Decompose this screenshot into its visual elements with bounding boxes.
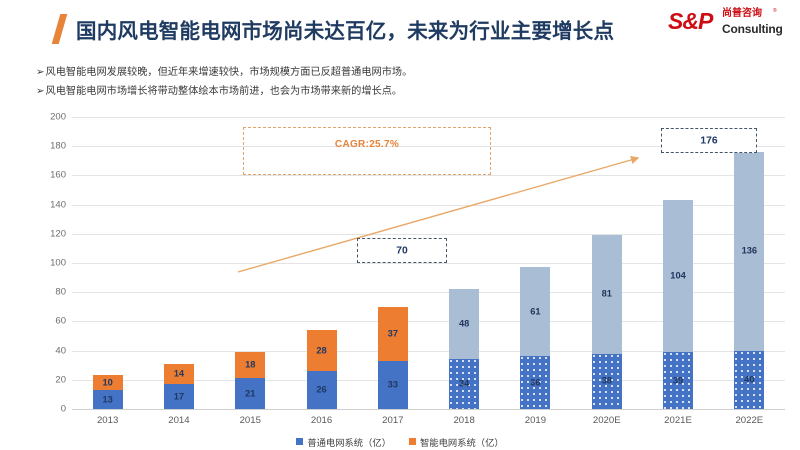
bar-segment-smart[interactable]: 48 xyxy=(449,289,479,359)
bar-value-label: 10 xyxy=(93,378,123,387)
x-axis-tick-label: 2017 xyxy=(382,415,403,426)
legend-label-ordinary: 普通电网系统（亿） xyxy=(307,438,391,448)
bar-value-label: 40 xyxy=(734,375,764,384)
x-axis-tick-label: 2021E xyxy=(664,415,692,426)
y-axis-tick-label: 20 xyxy=(6,374,66,385)
bar-segment-smart[interactable]: 28 xyxy=(307,330,337,371)
legend-label-smart: 智能电网系统（亿） xyxy=(420,438,504,448)
legend-item-smart[interactable]: 智能电网系统（亿） xyxy=(409,435,504,449)
x-axis-tick-label: 2019 xyxy=(525,415,546,426)
bar-segment-ordinary[interactable]: 40 xyxy=(734,351,764,409)
bar-value-label: 34 xyxy=(449,380,479,389)
bar-value-label: 81 xyxy=(592,290,622,299)
bar-segment-smart[interactable]: 10 xyxy=(93,375,123,390)
bullet-marker-icon: ➢ xyxy=(36,86,45,97)
bar-group[interactable]: 2628 xyxy=(307,330,337,409)
y-axis-tick-label: 0 xyxy=(6,404,66,415)
bar-segment-ordinary[interactable]: 13 xyxy=(93,390,123,409)
bar-value-label: 33 xyxy=(378,380,408,389)
bar-segment-smart[interactable]: 136 xyxy=(734,152,764,351)
bar-group[interactable]: 1714 xyxy=(164,364,194,409)
bar-segment-ordinary[interactable]: 17 xyxy=(164,384,194,409)
bar-value-label: 37 xyxy=(378,329,408,338)
bar-value-label: 26 xyxy=(307,385,337,394)
bar-segment-smart[interactable]: 18 xyxy=(235,352,265,378)
y-axis-tick-label: 40 xyxy=(6,345,66,356)
bar-segment-ordinary[interactable]: 33 xyxy=(378,361,408,409)
bar-value-label: 13 xyxy=(93,395,123,404)
bar-value-label: 48 xyxy=(449,320,479,329)
bar-group[interactable]: 3337 xyxy=(378,307,408,409)
legend-swatch-ordinary-icon xyxy=(296,438,303,445)
bar-value-label: 21 xyxy=(235,389,265,398)
bar-value-label: 28 xyxy=(307,346,337,355)
bar-value-label: 17 xyxy=(164,392,194,401)
bullet-text: 风电智能电网发展较晚，但近年来增速较快，市场规模方面已反超普通电网市场。 xyxy=(46,67,413,78)
logo-chinese-name: 尚普咨询 xyxy=(722,9,762,19)
bar-segment-smart[interactable]: 81 xyxy=(592,235,622,353)
bullet-item: ➢风电智能电网市场增长将带动整体绘本市场前进，也会为市场带来新的增长点。 xyxy=(36,82,536,101)
bar-group[interactable]: 40136 xyxy=(734,152,764,409)
callout-176-label: 176 xyxy=(662,135,756,146)
x-axis-line xyxy=(72,409,785,410)
chart-legend: 普通电网系统（亿） 智能电网系统（亿） xyxy=(0,435,800,449)
bar-value-label: 39 xyxy=(663,376,693,385)
y-axis-tick-label: 80 xyxy=(6,287,66,298)
bar-value-label: 104 xyxy=(663,271,693,280)
bar-segment-smart[interactable]: 104 xyxy=(663,200,693,352)
cagr-label: CAGR:25.7% xyxy=(244,139,490,150)
bullet-marker-icon: ➢ xyxy=(36,67,45,78)
callout-70-label: 70 xyxy=(358,245,446,256)
gridline xyxy=(72,175,785,176)
x-axis-tick-label: 2022E xyxy=(735,415,763,426)
stacked-bar-chart: 020406080100120140160180200 131017142118… xyxy=(0,105,800,450)
bar-value-label: 136 xyxy=(734,247,764,256)
x-axis-tick-label: 2014 xyxy=(168,415,189,426)
logo-subtitle: Consulting xyxy=(722,23,783,35)
bar-segment-ordinary[interactable]: 26 xyxy=(307,371,337,409)
x-axis-tick-label: 2013 xyxy=(97,415,118,426)
y-axis-tick-label: 100 xyxy=(6,258,66,269)
bullet-item: ➢风电智能电网发展较晚，但近年来增速较快，市场规模方面已反超普通电网市场。 xyxy=(36,63,536,82)
callout-box-2022-total: 176 xyxy=(661,128,757,153)
bar-segment-ordinary[interactable]: 34 xyxy=(449,359,479,409)
company-logo: S&P 尚普咨询 ® Consulting xyxy=(668,8,786,42)
y-axis: 020406080100120140160180200 xyxy=(0,117,66,409)
bar-value-label: 18 xyxy=(235,361,265,370)
bar-group[interactable]: 1310 xyxy=(93,375,123,409)
callout-box-2017-total: 70 xyxy=(357,238,447,263)
legend-item-ordinary[interactable]: 普通电网系统（亿） xyxy=(296,435,391,449)
title-accent-slash-icon xyxy=(52,14,68,44)
gridline xyxy=(72,117,785,118)
bar-segment-ordinary[interactable]: 21 xyxy=(235,378,265,409)
y-axis-tick-label: 120 xyxy=(6,228,66,239)
bar-group[interactable]: 39104 xyxy=(663,200,693,409)
bullet-text: 风电智能电网市场增长将带动整体绘本市场前进，也会为市场带来新的增长点。 xyxy=(46,86,403,97)
bar-group[interactable]: 3881 xyxy=(592,235,622,409)
bar-value-label: 38 xyxy=(592,377,622,386)
bar-segment-ordinary[interactable]: 39 xyxy=(663,352,693,409)
summary-bullets: ➢风电智能电网发展较晚，但近年来增速较快，市场规模方面已反超普通电网市场。 ➢风… xyxy=(36,63,536,101)
bar-segment-smart[interactable]: 37 xyxy=(378,307,408,361)
logo-mark-text: S&P xyxy=(668,10,712,33)
bar-value-label: 14 xyxy=(164,369,194,378)
bar-group[interactable]: 3661 xyxy=(520,267,550,409)
y-axis-tick-label: 180 xyxy=(6,141,66,152)
bar-segment-ordinary[interactable]: 36 xyxy=(520,356,550,409)
bar-value-label: 61 xyxy=(520,307,550,316)
bar-group[interactable]: 3448 xyxy=(449,289,479,409)
bar-value-label: 36 xyxy=(520,378,550,387)
x-axis-tick-label: 2018 xyxy=(453,415,474,426)
bar-segment-smart[interactable]: 14 xyxy=(164,364,194,384)
page-title: 国内风电智能电网市场尚未达百亿，未来为行业主要增长点 xyxy=(76,14,614,44)
x-axis-tick-label: 2015 xyxy=(240,415,261,426)
legend-swatch-smart-icon xyxy=(409,438,416,445)
bar-group[interactable]: 2118 xyxy=(235,352,265,409)
logo-registered-icon: ® xyxy=(773,8,777,14)
cagr-annotation-box: CAGR:25.7% xyxy=(243,127,491,175)
bar-segment-smart[interactable]: 61 xyxy=(520,267,550,356)
y-axis-tick-label: 140 xyxy=(6,199,66,210)
page-header: 国内风电智能电网市场尚未达百亿，未来为行业主要增长点 S&P 尚普咨询 ® Co… xyxy=(0,0,800,52)
y-axis-tick-label: 60 xyxy=(6,316,66,327)
y-axis-tick-label: 200 xyxy=(6,112,66,123)
y-axis-tick-label: 160 xyxy=(6,170,66,181)
bar-segment-ordinary[interactable]: 38 xyxy=(592,354,622,409)
x-axis-tick-label: 2016 xyxy=(311,415,332,426)
x-axis-tick-label: 2020E xyxy=(593,415,621,426)
